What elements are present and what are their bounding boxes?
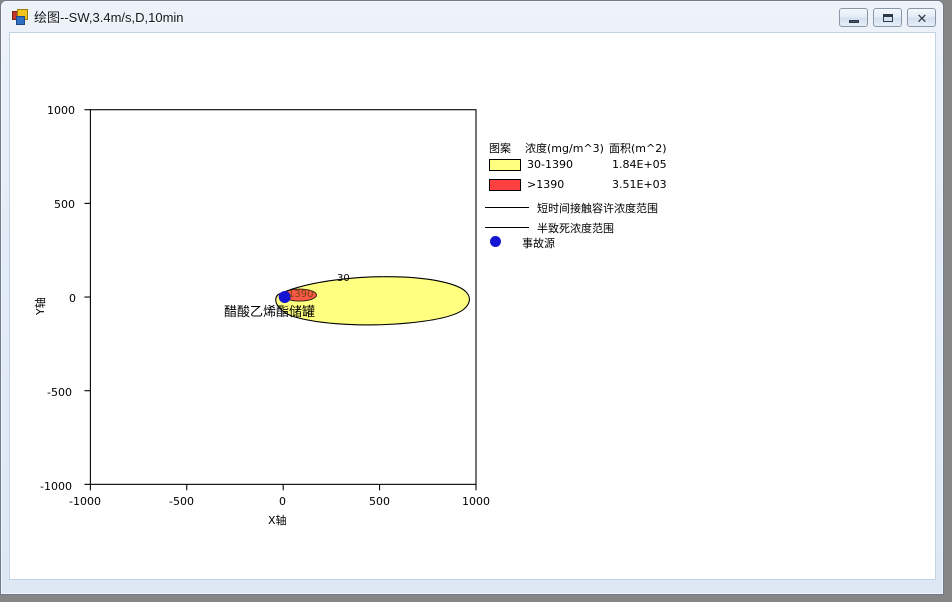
- application-window: 绘图--SW,3.4m/s,D,10min ✕: [0, 0, 944, 595]
- y-tick-500: 500: [54, 198, 75, 211]
- legend-area-gt-1390: 3.51E+03: [612, 178, 667, 191]
- legend-value-30-1390: 30-1390: [527, 158, 573, 171]
- legend-area-30-1390: 1.84E+05: [612, 158, 667, 171]
- minimize-button[interactable]: [839, 8, 868, 27]
- legend-value-gt-1390: >1390: [527, 178, 564, 191]
- contour-label-1390: 1390: [288, 289, 313, 300]
- close-icon: ✕: [915, 12, 929, 25]
- legend-line-lc50: [485, 227, 529, 228]
- y-tick-1000: 1000: [47, 104, 75, 117]
- icon-square-blue: [16, 16, 25, 25]
- x-tick-m500: -500: [169, 495, 194, 508]
- legend-header-pattern: 图案: [489, 140, 511, 156]
- legend-label-stel: 短时间接触容许浓度范围: [537, 200, 658, 216]
- x-axis-title: X轴: [268, 512, 287, 528]
- app-form-icon: [12, 9, 28, 24]
- x-tick-0: 0: [279, 495, 286, 508]
- y-tick-m1000: -1000: [40, 480, 72, 493]
- legend: 图案 浓度(mg/m^3) 面积(m^2) 30-1390 1.84E+05 >…: [481, 135, 701, 260]
- legend-line-stel: [485, 207, 529, 208]
- title-bar[interactable]: 绘图--SW,3.4m/s,D,10min ✕: [1, 1, 943, 30]
- legend-swatch-gt-1390: [489, 179, 521, 191]
- legend-label-lc50: 半致死浓度范围: [537, 220, 614, 236]
- maximize-icon: [883, 14, 893, 22]
- x-tick-m1000: -1000: [69, 495, 101, 508]
- x-tick-500: 500: [369, 495, 390, 508]
- close-button[interactable]: ✕: [907, 8, 936, 27]
- minimize-icon: [849, 20, 859, 23]
- legend-header-concentration: 浓度(mg/m^3): [525, 140, 604, 156]
- legend-swatch-30-1390: [489, 159, 521, 171]
- maximize-button[interactable]: [873, 8, 902, 27]
- source-point-label: 醋酸乙烯酯储罐: [224, 301, 315, 320]
- legend-header-area: 面积(m^2): [609, 140, 667, 156]
- window-title: 绘图--SW,3.4m/s,D,10min: [34, 7, 184, 26]
- x-tick-1000: 1000: [462, 495, 490, 508]
- client-area: 1000 500 0 -500 -1000 -1000 -500 0 500 1…: [9, 32, 936, 580]
- y-tick-m500: -500: [47, 386, 72, 399]
- legend-label-source: 事故源: [522, 235, 555, 251]
- y-tick-0: 0: [69, 292, 76, 305]
- contour-label-30: 30: [337, 273, 350, 284]
- y-axis-title: Y轴: [32, 297, 48, 315]
- legend-marker-source-dot: [490, 236, 501, 247]
